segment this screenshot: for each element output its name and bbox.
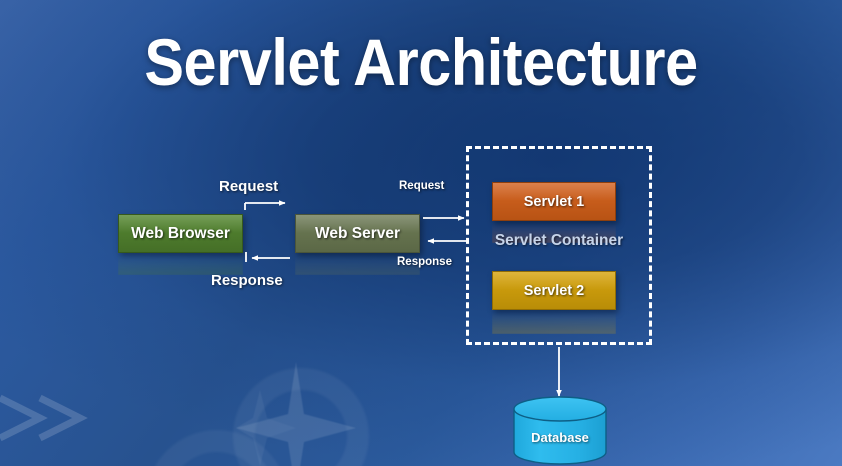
node-servlet-2[interactable]: Servlet 2 [492, 271, 616, 310]
edge-label-request-browser-server: Request [219, 178, 278, 195]
edge-browser-to-server [245, 203, 285, 210]
watermark-swoosh-icon [0, 392, 150, 462]
node-servlet-1-label: Servlet 1 [524, 194, 584, 210]
watermark-ring-secondary-icon [146, 430, 288, 466]
edge-label-response-server-browser: Response [211, 272, 283, 289]
node-web-browser-label: Web Browser [131, 225, 230, 243]
node-servlet-2-label: Servlet 2 [524, 283, 584, 299]
watermark-ring-icon [233, 368, 369, 466]
node-web-server-label: Web Server [315, 225, 400, 243]
node-servlet-1[interactable]: Servlet 1 [492, 182, 616, 221]
node-web-browser[interactable]: Web Browser [118, 214, 243, 253]
diagram-canvas: Servlet Architecture Web Browser Web Ser… [0, 0, 842, 466]
node-web-server[interactable]: Web Server [295, 214, 420, 253]
servlet-container-label: Servlet Container [466, 232, 652, 250]
page-title: Servlet Architecture [42, 16, 800, 108]
watermark-sparkle-icon [236, 362, 356, 466]
edge-label-response-container-server: Response [397, 256, 452, 268]
node-database-label: Database [512, 430, 608, 445]
edge-server-to-browser [246, 252, 290, 262]
edge-label-request-server-container: Request [399, 180, 444, 192]
